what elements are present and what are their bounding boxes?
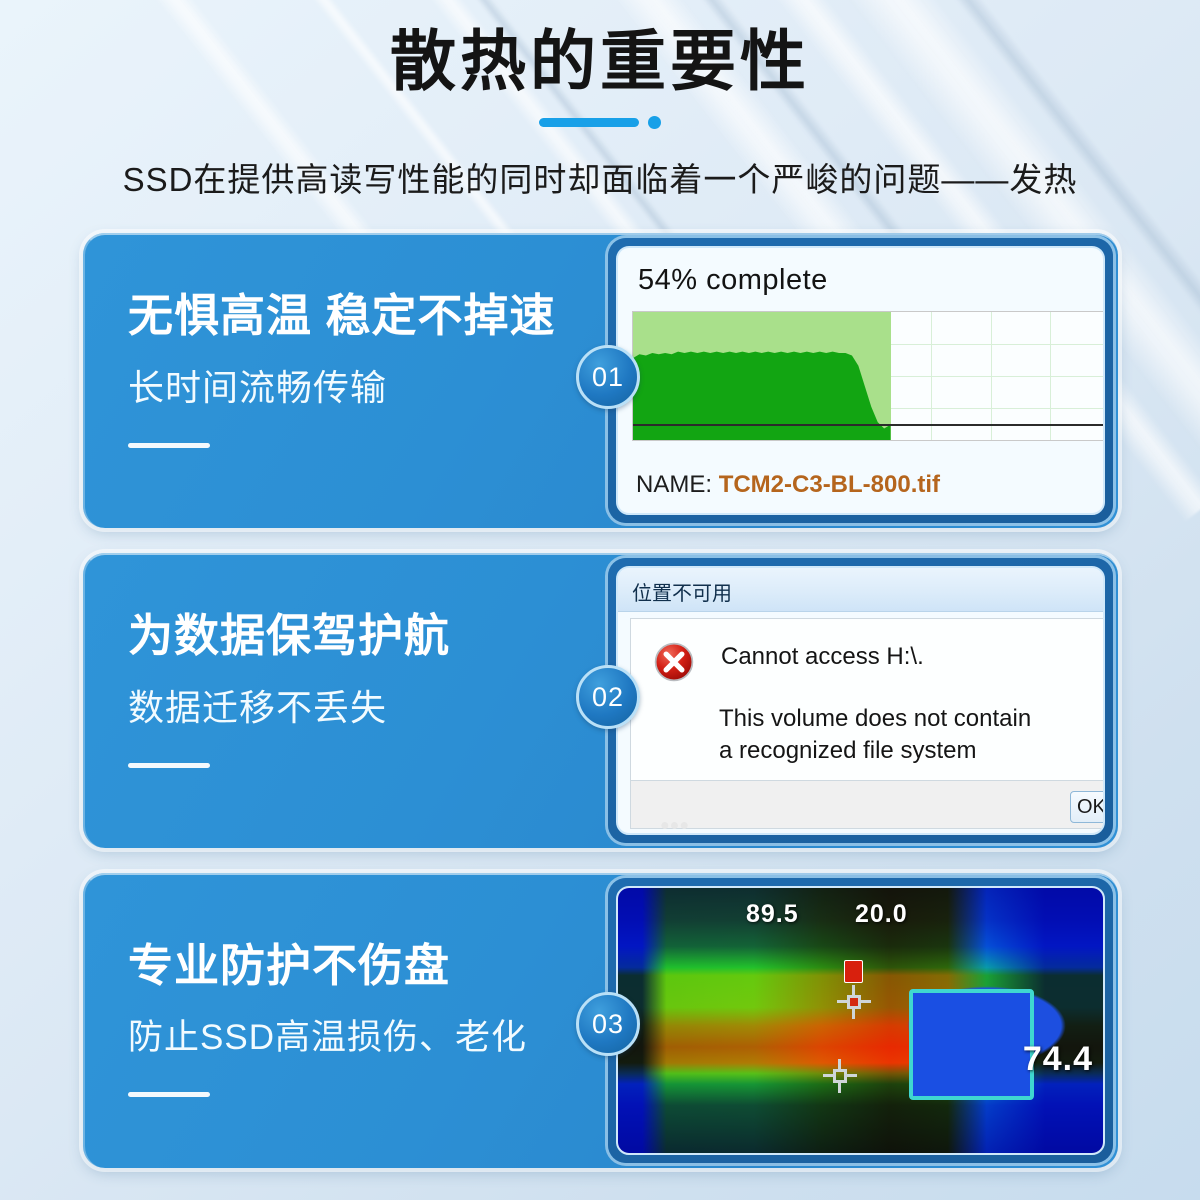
card-2-text: 为数据保驾护航 数据迁移不丢失 <box>128 609 608 768</box>
card-2-dash <box>128 763 210 768</box>
card-1-text: 无惧高温 稳定不掉速 长时间流畅传输 <box>128 289 608 448</box>
thermal-temp-top-left: 89.5 <box>746 900 799 929</box>
card-3-number-badge: 03 <box>576 992 640 1056</box>
thermal-marker-hot-icon <box>841 989 867 1015</box>
page-header: 散热的重要性 SSD在提供高读写性能的同时却面临着一个严峻的问题——发热 <box>0 0 1200 201</box>
dialog-footer: OK <box>630 781 1105 829</box>
card-2-number-badge: 02 <box>576 665 640 729</box>
dialog-body: Cannot access H:\. This volume does not … <box>630 618 1105 781</box>
copy-name-label: NAME: <box>636 471 712 498</box>
chart-baseline <box>633 424 1105 426</box>
ok-button[interactable]: OK <box>1070 791 1105 823</box>
windows-error-dialog: 位置不可用 Cannot access H:\. <box>616 566 1105 835</box>
card-1-dash <box>128 443 210 448</box>
hot-spot-tag-icon <box>844 960 863 983</box>
card-1-subtitle: 长时间流畅传输 <box>128 359 608 411</box>
dialog-watermark: ●●● <box>660 817 689 835</box>
card-2-screenshot-frame: 位置不可用 Cannot access H:\. <box>608 558 1113 843</box>
error-message-text-b: a recognized file system <box>719 735 1031 767</box>
card-2-title: 为数据保驾护航 <box>128 609 608 663</box>
page-title: 散热的重要性 <box>0 24 1200 100</box>
thermal-camera-image: 89.5 20.0 74.4 <box>616 886 1105 1155</box>
dialog-title: 位置不可用 <box>632 577 732 606</box>
card-3-text: 专业防护不伤盘 防止SSD高温损伤、老化 <box>128 939 608 1097</box>
error-x-icon <box>653 641 695 683</box>
thermal-temp-top-right: 20.0 <box>855 900 908 929</box>
card-3-dash <box>128 1092 210 1097</box>
copy-file-name: TCM2-C3-BL-800.tif <box>719 471 940 498</box>
error-message-text-a: This volume does not contain <box>719 703 1031 735</box>
card-1-title: 无惧高温 稳定不掉速 <box>128 289 608 343</box>
card-3-subtitle: 防止SSD高温损伤、老化 <box>128 1009 608 1060</box>
error-message-line-2: This volume does not contain a recognize… <box>719 703 1031 768</box>
thermal-marker-icon <box>827 1063 853 1089</box>
copy-file-name-row: NAME: TCM2-C3-BL-800.tif <box>636 471 940 499</box>
title-divider <box>0 116 1200 129</box>
divider-bar <box>539 118 639 127</box>
card-3-screenshot-frame: 89.5 20.0 74.4 <box>608 878 1113 1163</box>
file-copy-dialog: 54% complete N <box>616 246 1105 515</box>
dialog-titlebar: 位置不可用 <box>618 568 1103 612</box>
chart-area-path <box>633 312 1105 440</box>
copy-progress-text: 54% complete <box>638 264 828 297</box>
card-1-screenshot-frame: 54% complete N <box>608 238 1113 523</box>
thermal-temp-bottom-right: 74.4 <box>1023 1040 1093 1079</box>
card-2-subtitle: 数据迁移不丢失 <box>128 679 608 731</box>
transfer-speed-chart <box>632 311 1105 441</box>
card-1-number-badge: 01 <box>576 345 640 409</box>
card-3-title: 专业防护不伤盘 <box>128 939 608 993</box>
thermal-cool-region <box>909 989 1034 1100</box>
page-subtitle: SSD在提供高读写性能的同时却面临着一个严峻的问题——发热 <box>0 153 1200 201</box>
error-message-line-1: Cannot access H:\. <box>721 643 924 671</box>
divider-dot <box>648 116 661 129</box>
